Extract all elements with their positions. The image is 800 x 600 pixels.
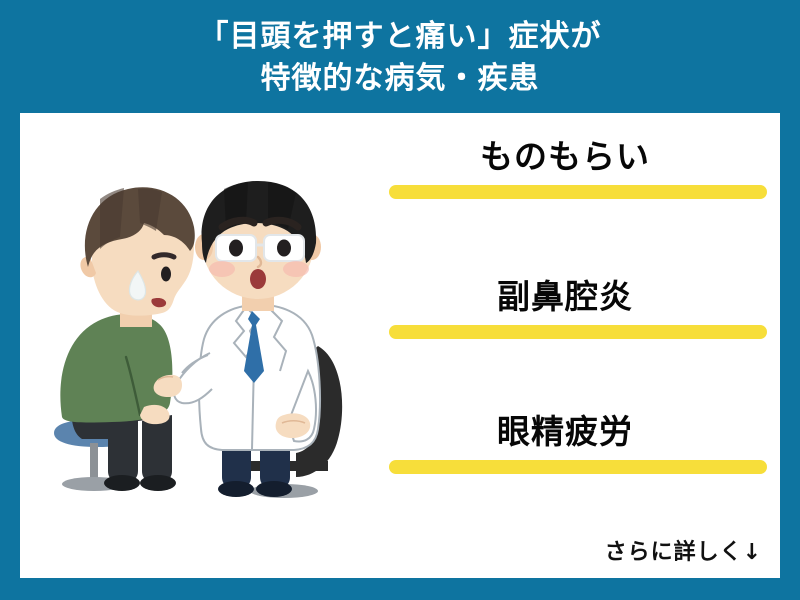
poster-root: 「目頭を押すと痛い」症状が 特徴的な病気・疾患: [0, 0, 800, 600]
condition-item-2[interactable]: 眼精疲労: [369, 410, 767, 474]
condition-label-2: 眼精疲労: [369, 410, 767, 454]
condition-label-1: 副鼻腔炎: [369, 275, 767, 319]
more-details-link[interactable]: さらに詳しく↓: [605, 534, 762, 566]
page-title-line-2: 特徴的な病気・疾患: [0, 58, 800, 100]
page-title: 「目頭を押すと痛い」症状が 特徴的な病気・疾患: [0, 16, 800, 100]
condition-underline-bar-1: [389, 325, 767, 339]
condition-underline-bar-2: [389, 460, 767, 474]
page-title-line-1: 「目頭を押すと痛い」症状が: [0, 16, 800, 58]
condition-item-1[interactable]: 副鼻腔炎: [369, 275, 767, 339]
condition-item-0[interactable]: ものもらい: [369, 135, 767, 199]
content-card: ものもらい 副鼻腔炎 眼精疲労 さらに詳しく↓: [20, 113, 780, 578]
condition-label-0: ものもらい: [369, 135, 767, 179]
doctor-patient-illustration: [46, 171, 376, 511]
condition-underline-bar-0: [389, 185, 767, 199]
conditions-list: ものもらい 副鼻腔炎 眼精疲労: [369, 113, 767, 578]
